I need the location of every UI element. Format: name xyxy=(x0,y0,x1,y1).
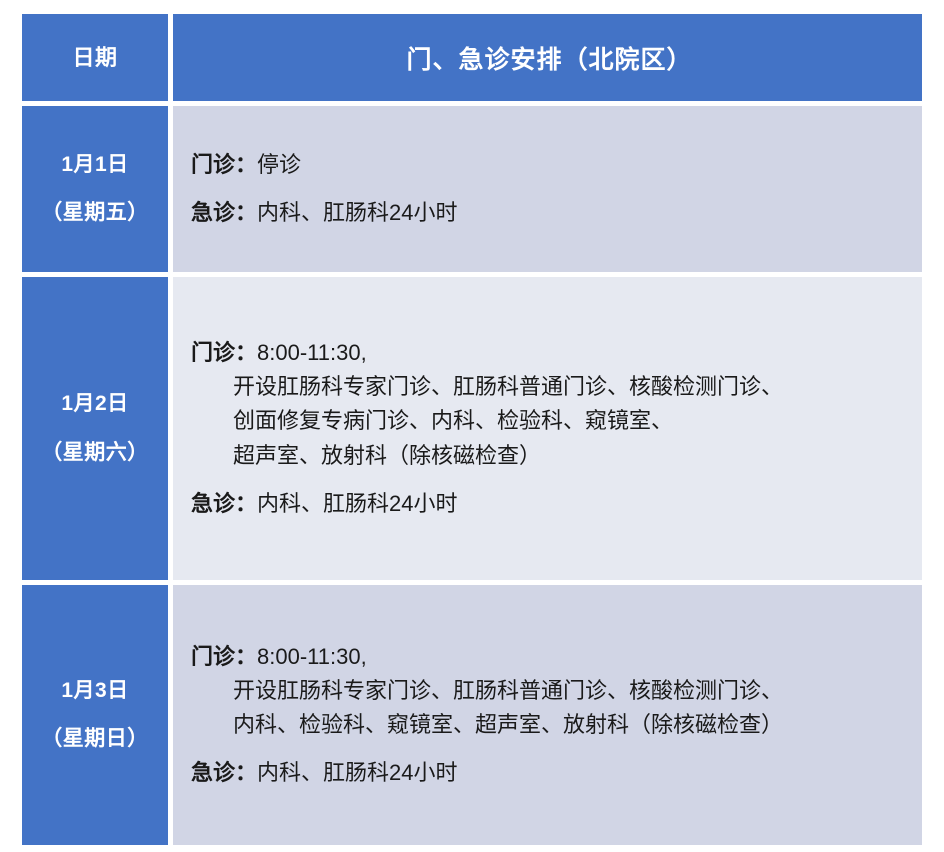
schedule-line-value: 8:00-11:30, xyxy=(257,644,367,669)
date-text: 1月3日 xyxy=(61,679,128,703)
schedule-line: 开设肛肠科专家门诊、肛肠科普通门诊、核酸检测门诊、 xyxy=(191,370,908,404)
weekday-text: （星期六） xyxy=(41,441,149,465)
schedule-line: 门诊：停诊 xyxy=(191,148,908,182)
schedule-line-value: 8:00-11:30, xyxy=(257,340,367,365)
schedule-line-label: 急诊： xyxy=(191,200,257,225)
weekday-text: （星期五） xyxy=(41,201,149,225)
schedule-line-label: 急诊： xyxy=(191,760,257,785)
schedule-line-label: 门诊： xyxy=(191,152,257,177)
schedule-cell-row-1: 门诊：停诊 急诊：内科、肛肠科24小时 xyxy=(173,106,922,272)
date-cell-row-1: 1月1日 （星期五） xyxy=(22,106,168,272)
date-cell-row-2: 1月2日 （星期六） xyxy=(22,277,168,580)
schedule-line: 急诊：内科、肛肠科24小时 xyxy=(191,756,908,790)
schedule-cell-row-3: 门诊：8:00-11:30, 开设肛肠科专家门诊、肛肠科普通门诊、核酸检测门诊、… xyxy=(173,585,922,845)
table-row: 1月2日 （星期六） 门诊：8:00-11:30, 开设肛肠科专家门诊、肛肠科普… xyxy=(22,277,922,580)
schedule-line-label: 门诊： xyxy=(191,340,257,365)
schedule-line: 急诊：内科、肛肠科24小时 xyxy=(191,196,908,230)
header-schedule-label: 门、急诊安排（北院区） xyxy=(406,40,692,76)
header-date-label: 日期 xyxy=(72,45,117,70)
schedule-line: 急诊：内科、肛肠科24小时 xyxy=(191,487,908,521)
schedule-line-value: 内科、肛肠科24小时 xyxy=(257,760,457,785)
schedule-line-value: 停诊 xyxy=(257,152,301,177)
schedule-line: 超声室、放射科（除核磁检查） xyxy=(191,439,908,473)
schedule-line: 门诊：8:00-11:30, xyxy=(191,640,908,674)
header-cell-schedule: 门、急诊安排（北院区） xyxy=(173,14,922,101)
date-text: 1月2日 xyxy=(61,392,128,416)
table-header-row: 日期 门、急诊安排（北院区） xyxy=(22,14,922,101)
clinic-schedule-table: 日期 门、急诊安排（北院区） 1月1日 （星期五） 门诊：停诊 急诊：内科、肛肠… xyxy=(22,14,922,845)
schedule-line-label: 急诊： xyxy=(191,491,257,516)
schedule-line: 创面修复专病门诊、内科、检验科、窥镜室、 xyxy=(191,404,908,438)
schedule-line: 开设肛肠科专家门诊、肛肠科普通门诊、核酸检测门诊、 xyxy=(191,674,908,708)
header-cell-date: 日期 xyxy=(22,14,168,101)
schedule-line: 内科、检验科、窥镜室、超声室、放射科（除核磁检查） xyxy=(191,708,908,742)
weekday-text: （星期日） xyxy=(41,727,149,751)
table-row: 1月3日 （星期日） 门诊：8:00-11:30, 开设肛肠科专家门诊、肛肠科普… xyxy=(22,585,922,845)
table-row: 1月1日 （星期五） 门诊：停诊 急诊：内科、肛肠科24小时 xyxy=(22,106,922,272)
schedule-line: 门诊：8:00-11:30, xyxy=(191,336,908,370)
date-cell-row-3: 1月3日 （星期日） xyxy=(22,585,168,845)
schedule-line-value: 内科、肛肠科24小时 xyxy=(257,200,457,225)
date-text: 1月1日 xyxy=(61,153,128,177)
schedule-cell-row-2: 门诊：8:00-11:30, 开设肛肠科专家门诊、肛肠科普通门诊、核酸检测门诊、… xyxy=(173,277,922,580)
schedule-line-value: 内科、肛肠科24小时 xyxy=(257,491,457,516)
schedule-line-label: 门诊： xyxy=(191,644,257,669)
